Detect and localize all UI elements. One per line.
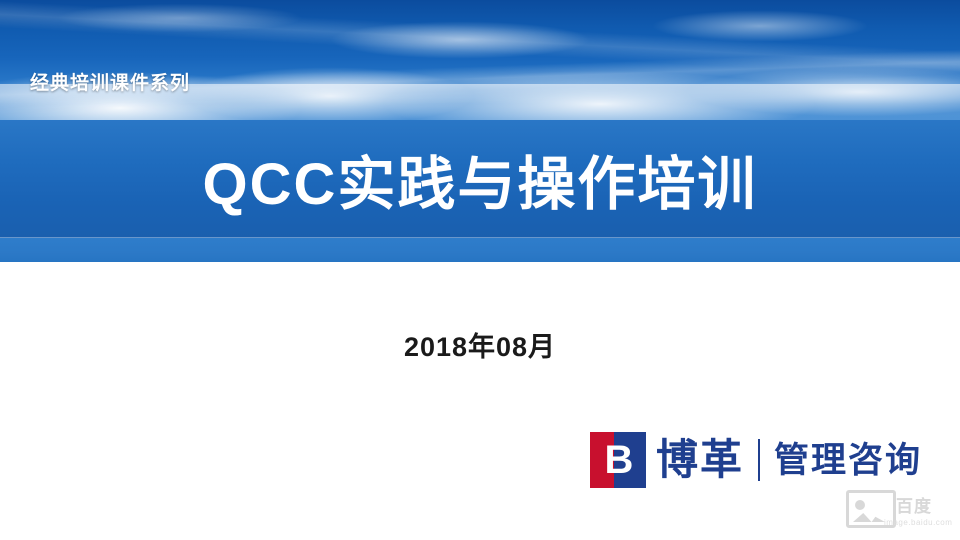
company-logo: B 博革 管理咨询 (590, 432, 922, 488)
sky-photo-banner (0, 0, 960, 120)
presentation-slide: 经典培训课件系列 QCC实践与操作培训 2018年08月 B 博革 管理咨询 百… (0, 0, 960, 540)
logo-divider (758, 439, 760, 481)
watermark-label: 百度 (896, 492, 932, 517)
slide-body (0, 265, 960, 540)
series-eyebrow-label: 经典培训课件系列 (30, 68, 190, 95)
accent-strip (0, 238, 960, 262)
logo-mark-icon: B (590, 432, 646, 488)
slide-date: 2018年08月 (0, 325, 960, 364)
image-watermark: 百度 image.baidu.com (846, 490, 954, 534)
slide-title: QCC实践与操作培训 (0, 120, 960, 238)
watermark-sublabel: image.baidu.com (884, 518, 952, 527)
logo-mark-letter: B (590, 432, 646, 488)
logo-tagline: 管理咨询 (774, 443, 922, 478)
logo-brand-name: 博革 (656, 439, 744, 481)
